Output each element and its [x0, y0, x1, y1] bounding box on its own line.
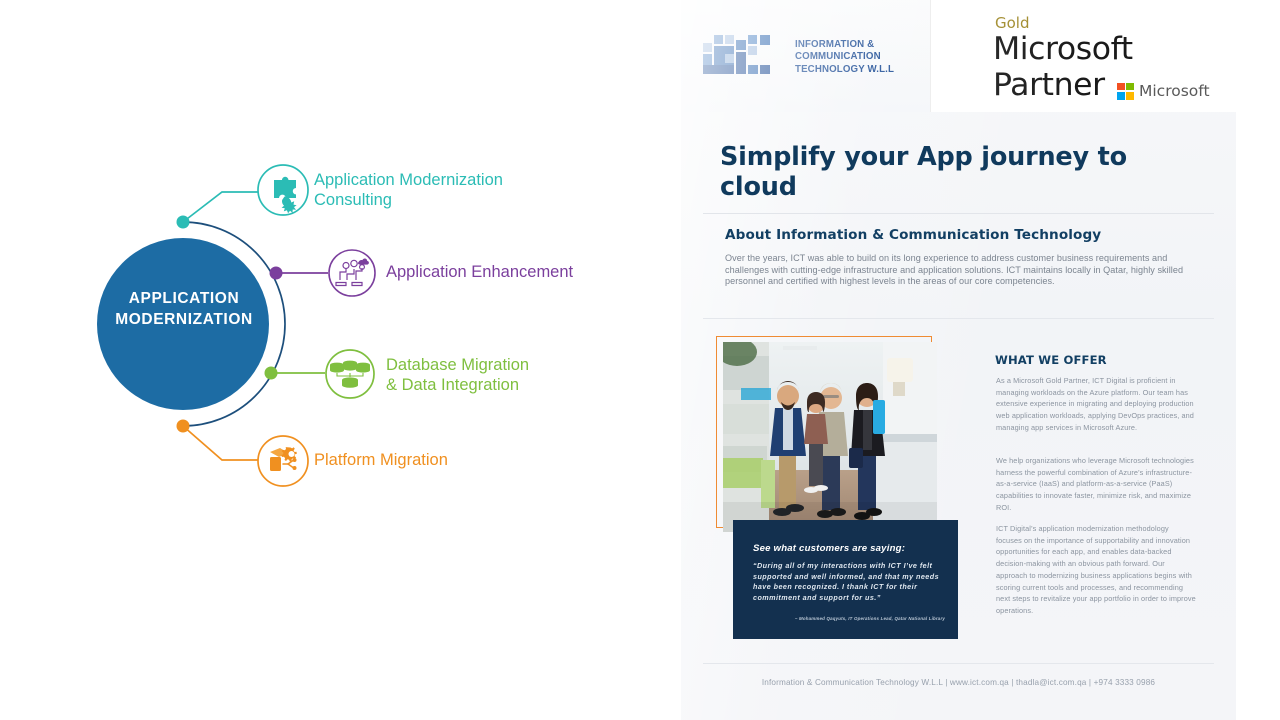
about-body: Over the years, ICT was able to build on…: [725, 253, 1187, 288]
slide: APPLICATION MODERNIZATION Application Mo…: [0, 0, 1280, 720]
microsoft-logo: Microsoft: [1117, 82, 1210, 100]
brochure-header: INFORMATION & COMMUNICATION TECHNOLOGY W…: [681, 0, 1236, 112]
what-we-offer-paragraph-2: We help organizations who leverage Micro…: [996, 455, 1196, 514]
node-dot-orange[interactable]: [177, 420, 190, 433]
connector-orange: [183, 426, 260, 460]
divider-under-about: [703, 318, 1214, 319]
application-modernization-diagram: APPLICATION MODERNIZATION Application Mo…: [0, 0, 681, 720]
ict-word-line2: COMMUNICATION: [795, 51, 894, 63]
platform-migration-gear-icon[interactable]: [258, 436, 308, 486]
ict-word-line3: TECHNOLOGY W.L.L: [795, 64, 894, 76]
connector-teal: [183, 192, 260, 222]
node-dot-teal[interactable]: [177, 216, 190, 229]
ict-word-line1: INFORMATION &: [795, 39, 894, 51]
brochure-page: INFORMATION & COMMUNICATION TECHNOLOGY W…: [681, 0, 1236, 720]
node-label-application-enhancement[interactable]: Application Enhancement: [386, 263, 573, 283]
what-we-offer-heading: WHAT WE OFFER: [995, 353, 1107, 367]
page-footer: Information & Communication Technology W…: [681, 678, 1236, 687]
office-photo: [723, 342, 937, 532]
ict-logo-mark: [703, 35, 785, 79]
testimonial-box: See what customers are saying: “During a…: [733, 520, 958, 639]
puzzle-piece-icon[interactable]: [258, 165, 308, 215]
node-label-application-modernization-consulting[interactable]: Application Modernization Consulting: [314, 171, 503, 210]
ict-logo-wordmark: INFORMATION & COMMUNICATION TECHNOLOGY W…: [795, 39, 894, 76]
center-circle: [97, 238, 269, 410]
testimonial-heading: See what customers are saying:: [753, 543, 905, 554]
microsoft-squares-icon: [1117, 83, 1134, 100]
microsoft-wordmark: Microsoft: [1139, 82, 1210, 100]
node-dot-green[interactable]: [265, 367, 278, 380]
testimonial-attribution: – Mohammed Qaqyuts, IT Operations Lead, …: [793, 616, 945, 621]
what-we-offer-paragraph-3: ICT Digital’s application modernization …: [996, 523, 1196, 617]
divider-under-title: [703, 213, 1214, 214]
app-enhancement-icon[interactable]: [329, 250, 375, 296]
node-dot-purple[interactable]: [270, 267, 283, 280]
diagram-svg: [0, 0, 681, 720]
node-label-database-migration[interactable]: Database Migration & Data Integration: [386, 356, 529, 395]
divider-above-footer: [703, 663, 1214, 664]
what-we-offer-paragraph-1: As a Microsoft Gold Partner, ICT Digital…: [996, 375, 1196, 434]
about-heading: About Information & Communication Techno…: [725, 227, 1195, 243]
database-migration-icon[interactable]: [326, 350, 374, 398]
microsoft-gold-partner-badge: Gold Microsoft Partner Microsoft: [930, 0, 1236, 112]
page-title: Simplify your App journey to cloud: [720, 142, 1150, 202]
badge-gold-label: Gold: [995, 14, 1030, 32]
node-label-platform-migration[interactable]: Platform Migration: [314, 451, 448, 471]
testimonial-quote: “During all of my interactions with ICT …: [753, 561, 943, 603]
ict-logo: INFORMATION & COMMUNICATION TECHNOLOGY W…: [703, 33, 898, 81]
